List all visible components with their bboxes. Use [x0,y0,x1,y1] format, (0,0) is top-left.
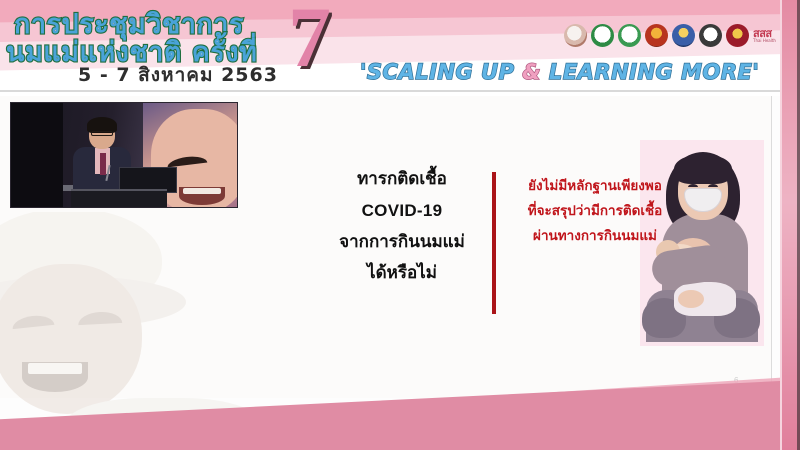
nursing-council-logo [726,24,749,47]
slide-answer-text: ยังไม่มีหลักฐานเพียงพอ ที่จะสรุปว่ามีการ… [500,174,690,249]
question-line-1: ทารกติดเชื้อ [322,164,482,195]
english-title-ampersand: & [522,60,541,84]
answer-line-2: ที่จะสรุปว่ามีการติดเชื้อ [500,199,690,224]
conference-edition-number: 7 [288,0,331,80]
video-dark-left-area [11,103,63,208]
sponsor-logo-strip: สสสThai Health [564,24,776,47]
watermark-teeth [28,363,82,374]
video-baby-teeth [183,188,221,194]
conference-header-banner: การประชุมวิชาการ นมแม่แห่งชาติ ครั้งที่ … [0,0,800,96]
conference-english-title: 'SCALING UP & LEARNING MORE' [360,60,759,84]
answer-line-1: ยังไม่มีหลักฐานเพียงพอ [500,174,690,199]
illustration-eye-right [708,184,718,187]
thaihealth-logo: สสสThai Health [753,28,776,43]
question-line-4: ได้หรือไม่ [322,258,482,289]
breastfeeding-foundation-logo [564,24,587,47]
illustration-mother-hand [678,290,704,308]
english-title-part1: 'SCALING UP [360,60,522,84]
question-line-3: จากการกินนมแม่ [322,227,482,258]
conference-speaker-video[interactable] [10,102,238,208]
red-vertical-divider [492,172,496,314]
conference-date: 5 - 7 สิงหาคม 2563 [78,60,278,90]
slide-presentation-screenshot: การประชุมวิชาการ นมแม่แห่งชาติ ครั้งที่ … [0,0,800,450]
question-line-2: COVID-19 [322,195,482,226]
royal-emblem-logo [645,24,668,47]
medical-council-logo [699,24,722,47]
video-speaker-tie [100,153,106,175]
header-divider-line [0,90,800,92]
english-title-part2: LEARNING MORE' [541,60,759,84]
thaihealth-logo-subtext: Thai Health [753,39,776,43]
answer-line-3: ผ่านทางการกินนมแม่ [500,224,690,249]
ministry-of-public-health-logo [591,24,614,47]
university-emblem-logo [672,24,695,47]
watermark-face [0,264,142,414]
department-of-health-logo [618,24,641,47]
video-speaker-glasses [91,131,113,136]
video-podium [71,189,167,208]
slide-question-text: ทารกติดเชื้อ COVID-19 จากการกินนมแม่ ได้… [322,164,482,290]
slide-content-area: ทารกติดเชื้อ COVID-19 จากการกินนมแม่ ได้… [0,96,772,398]
